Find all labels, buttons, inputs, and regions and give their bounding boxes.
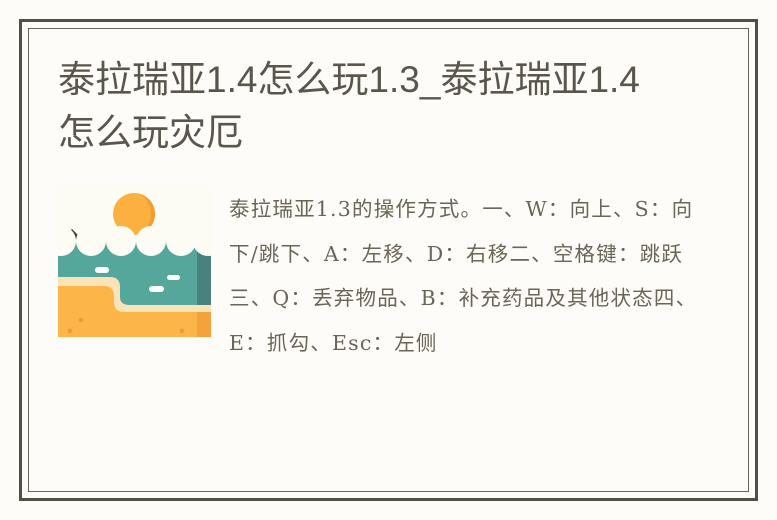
article-card: 泰拉瑞亚1.4怎么玩1.3_泰拉瑞亚1.4怎么玩灾厄 — [0, 0, 777, 520]
beach-scene-icon — [58, 185, 211, 337]
card-content: 泰拉瑞亚1.4怎么玩1.3_泰拉瑞亚1.4怎么玩灾厄 — [28, 28, 749, 492]
article-body: 泰拉瑞亚1.3的操作方式。一、W：向上、S：向下/跳下、A：左移、D：右移二、空… — [58, 185, 719, 365]
article-excerpt: 泰拉瑞亚1.3的操作方式。一、W：向上、S：向下/跳下、A：左移、D：右移二、空… — [229, 185, 719, 365]
thumbnail[interactable] — [58, 185, 211, 337]
page-title: 泰拉瑞亚1.4怎么玩1.3_泰拉瑞亚1.4怎么玩灾厄 — [58, 54, 670, 159]
